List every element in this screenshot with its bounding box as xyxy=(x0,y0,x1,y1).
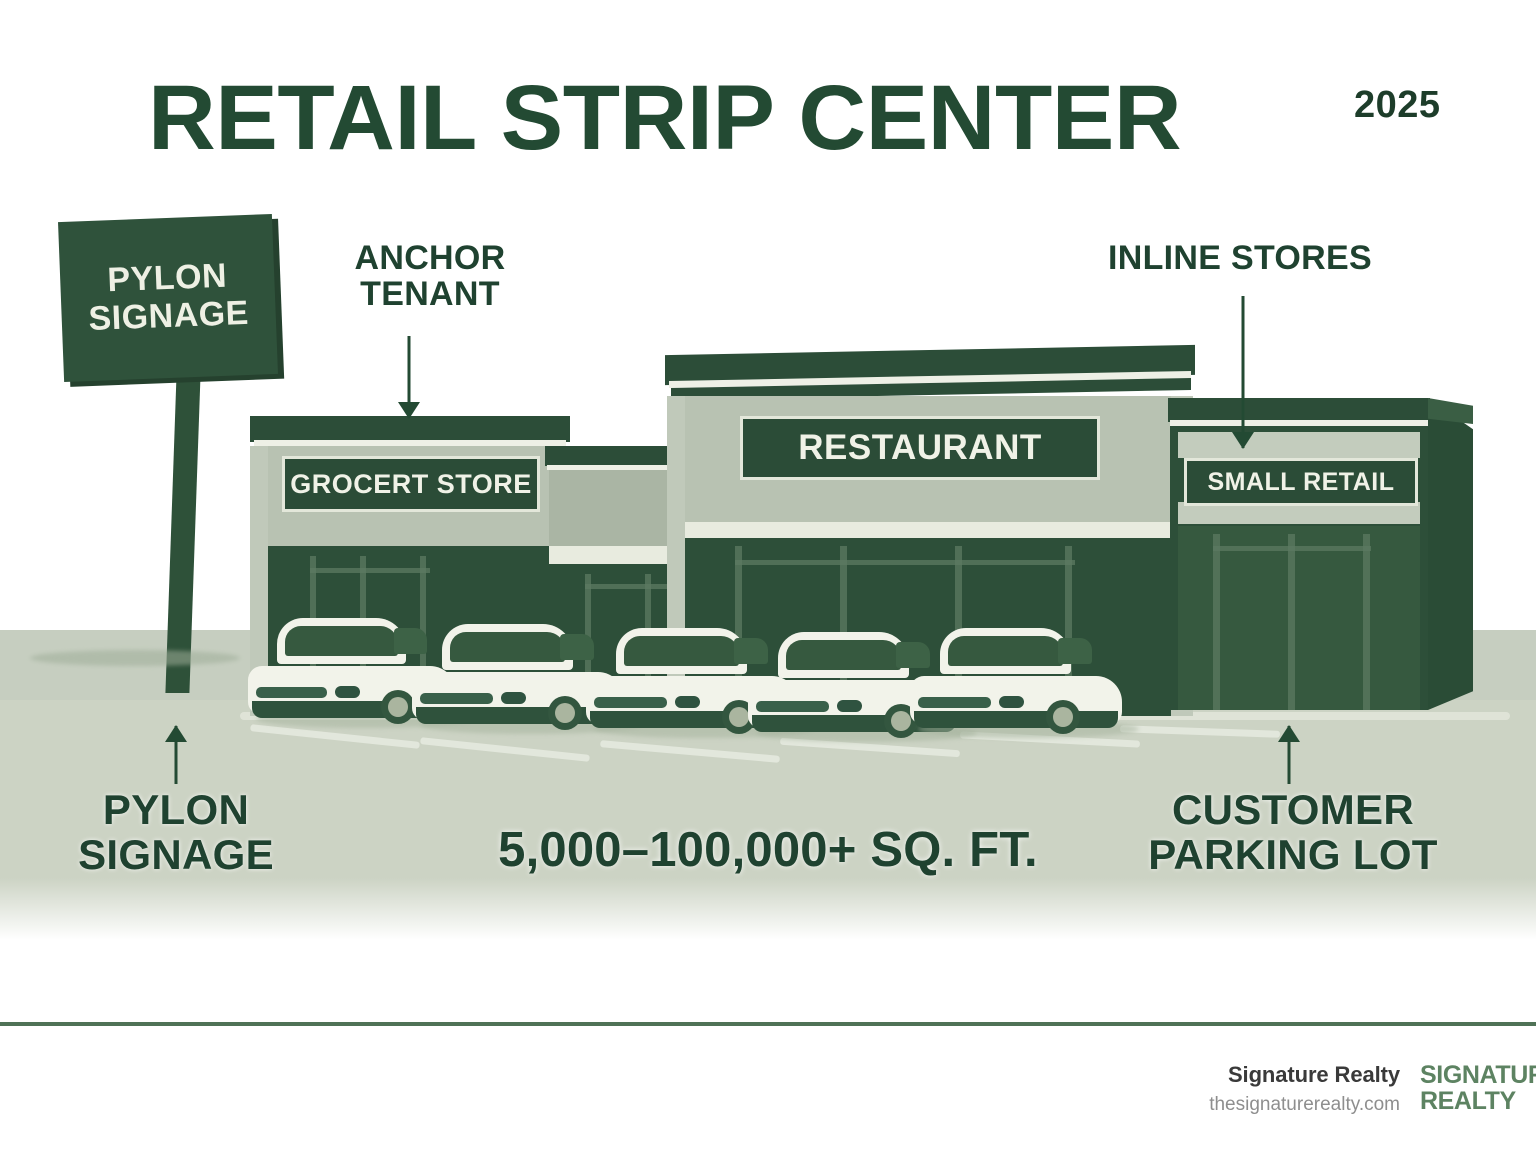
page-title: RETAIL STRIP CENTER xyxy=(148,68,1181,169)
arrow-head-up-icon xyxy=(165,725,187,742)
car-headlight xyxy=(335,686,360,698)
signature-realty-logo: SIGNATURE REALTY xyxy=(1420,1062,1536,1124)
car-windshield xyxy=(786,640,900,670)
arrow-pylon-signage xyxy=(165,726,187,784)
small-retail-upper-band xyxy=(1178,432,1420,458)
restaurant-mullion xyxy=(735,560,1075,565)
car-wheel xyxy=(548,696,582,730)
car-windshield xyxy=(948,636,1062,666)
car-headlight xyxy=(999,696,1024,708)
car-headlight xyxy=(675,696,700,708)
pylon-panel: PYLON SIGNAGE xyxy=(58,214,278,382)
car-windshield xyxy=(450,632,564,662)
callout-anchor-tenant: ANCHOR TENANT xyxy=(300,240,560,312)
pylon-shadow xyxy=(30,650,240,666)
small-retail-parapet xyxy=(1168,398,1430,422)
car-grille xyxy=(756,701,828,712)
footer-text-block: Signature Realty thesignaturerealty.com xyxy=(1209,1062,1400,1116)
size-range-label: 5,000–100,000+ SQ. FT. xyxy=(0,822,1536,878)
arrow-head-up-icon xyxy=(1278,725,1300,742)
car-grille xyxy=(256,687,327,698)
grocery-parapet xyxy=(250,416,570,442)
grocery-mullion xyxy=(310,568,430,573)
car-grille xyxy=(594,697,666,708)
store-sign-restaurant[interactable]: RESTAURANT xyxy=(740,416,1100,480)
footer: Signature Realty thesignaturerealty.com xyxy=(0,1026,1536,1154)
arrow-anchor-tenant xyxy=(398,336,420,418)
car-wheel xyxy=(1046,700,1080,734)
arrow-inline-stores xyxy=(1232,296,1254,448)
small-retail-mullion xyxy=(1213,534,1220,710)
pylon-post xyxy=(165,373,200,693)
small-retail-side-wall xyxy=(1428,398,1473,710)
car-side-window xyxy=(1058,638,1092,664)
callout-anchor-tenant-line2: TENANT xyxy=(300,276,560,312)
store-sign-label-small-retail: SMALL RETAIL xyxy=(1207,468,1394,497)
pylon-sign-line1: PYLON xyxy=(107,259,228,299)
building-small-retail: SMALL RETAIL xyxy=(1168,384,1473,716)
pylon-sign-line2: SIGNAGE xyxy=(88,296,250,338)
footer-website-url[interactable]: thesignaturerealty.com xyxy=(1209,1094,1400,1116)
store-sign-small-retail[interactable]: SMALL RETAIL xyxy=(1184,458,1418,506)
callout-inline-stores: INLINE STORES xyxy=(1060,240,1420,276)
car-headlight xyxy=(837,700,862,712)
car-grille xyxy=(420,693,492,704)
car-lower-body xyxy=(914,711,1118,728)
car-windshield xyxy=(624,636,738,666)
car-headlight xyxy=(501,692,526,704)
store-sign-label-restaurant: RESTAURANT xyxy=(798,428,1042,468)
small-retail-mullion xyxy=(1363,534,1370,710)
infographic-page: RETAIL STRIP CENTER 2025 GROCERT STORE xyxy=(0,0,1536,1154)
ground-fade xyxy=(0,878,1536,940)
logo-line2: REALTY xyxy=(1420,1088,1536,1114)
footer-brand-name: Signature Realty xyxy=(1209,1062,1400,1088)
small-retail-mullion xyxy=(1213,546,1371,551)
store-sign-grocery[interactable]: GROCERT STORE xyxy=(282,456,540,512)
car-wheel xyxy=(381,690,415,724)
store-sign-label-grocery: GROCERT STORE xyxy=(290,469,532,500)
car xyxy=(910,628,1122,738)
restaurant-lower-band xyxy=(679,522,1183,538)
car-grille xyxy=(918,697,990,708)
callout-anchor-tenant-line1: ANCHOR xyxy=(300,240,560,276)
year-badge: 2025 xyxy=(1354,84,1441,127)
logo-line1: SIGNATURE xyxy=(1420,1062,1536,1088)
arrow-head-down-icon xyxy=(1232,432,1254,449)
small-retail-mullion xyxy=(1288,534,1295,710)
title-row: RETAIL STRIP CENTER 2025 xyxy=(0,68,1536,188)
arrow-shaft xyxy=(1242,296,1245,448)
callout-inline-stores-line1: INLINE STORES xyxy=(1060,240,1420,276)
arrow-customer-parking xyxy=(1278,726,1300,784)
arrow-head-down-icon xyxy=(398,402,420,419)
car-windshield xyxy=(285,626,397,656)
